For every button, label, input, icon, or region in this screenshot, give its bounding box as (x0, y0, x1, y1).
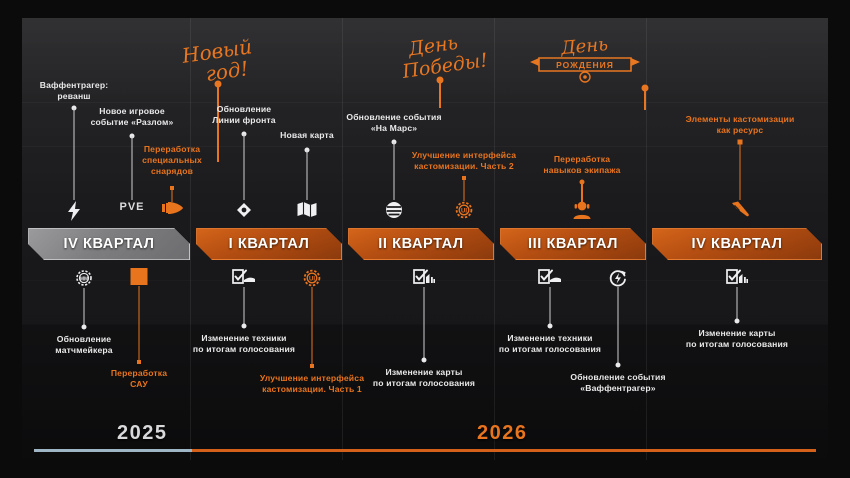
milestone-label: Элементы кастомизациикак ресурс (686, 114, 795, 136)
svg-text:UI: UI (309, 276, 315, 282)
quarter-bar-label: IV КВАРТАЛ (691, 236, 782, 252)
milestone-dot (735, 319, 740, 324)
quarter-bar-q2-2026[interactable]: II КВАРТАЛ (348, 228, 494, 260)
milestone-dot (82, 325, 87, 330)
milestone-label: ОбновлениеЛинии фронта (212, 104, 275, 126)
quarter-bar-q4-2025[interactable]: IV КВАРТАЛ (28, 228, 190, 260)
map-icon (297, 201, 318, 218)
svg-text:MM: MM (80, 276, 88, 282)
milestone-stem (737, 287, 738, 321)
milestone-stem (244, 287, 245, 326)
lightning-bolt-icon (64, 200, 84, 222)
vote-map-icon (726, 268, 748, 285)
vote-tank-icon (538, 268, 562, 285)
milestone-label: Обновлениематчмейкера (55, 334, 112, 356)
milestone-label: Обновление события«На Марс» (346, 112, 441, 134)
roadmap-board: Новый год! День Победы! День (22, 18, 828, 460)
milestone-label: Ваффентрагер:реванш (40, 80, 109, 102)
milestone-label: Изменение картыпо итогам голосования (373, 367, 475, 389)
svg-text:UI: UI (461, 208, 467, 214)
milestone-stem (740, 142, 741, 200)
milestone-stem (307, 150, 308, 200)
milestone-dot (548, 324, 553, 329)
milestone-stem (84, 288, 85, 327)
milestone-label: Изменение техникипо итогам голосования (193, 333, 295, 355)
frontline-burst-icon (234, 200, 254, 220)
roadmap-infographic: Новый год! День Победы! День (0, 0, 850, 478)
milestone-label: Новая карта (280, 130, 334, 141)
milestone-stem (394, 142, 395, 200)
ui-gear-icon: UI (454, 200, 474, 220)
milestone-stem (139, 286, 140, 362)
milestone-stem (74, 108, 75, 200)
event-cycle-icon (608, 268, 628, 288)
milestone-stem (312, 287, 313, 366)
milestone-stem (172, 188, 173, 202)
milestone-label: Переработканавыков экипажа (543, 154, 620, 176)
milestone-dot (137, 360, 141, 364)
ui-gear-icon: UI (302, 268, 322, 288)
milestone-dot (242, 324, 247, 329)
quarter-bar-label: IV КВАРТАЛ (63, 236, 154, 252)
square-placeholder-icon (131, 268, 148, 285)
mars-planet-icon (384, 200, 404, 220)
year-label-2026: 2026 (477, 422, 528, 445)
milestone-stem (244, 134, 245, 200)
quarter-bar-label: III КВАРТАЛ (528, 236, 618, 252)
milestone-stem (464, 178, 465, 201)
timeline-bar-2025 (34, 449, 192, 452)
crew-icon (571, 200, 593, 220)
milestone-stem (424, 287, 425, 360)
timeline-bar-2026 (192, 449, 816, 452)
milestone-label: Изменение картыпо итогам голосования (686, 328, 788, 350)
milestone-stem (550, 287, 551, 326)
quarter-bar-q1-2026[interactable]: I КВАРТАЛ (196, 228, 342, 260)
paint-brush-icon (729, 200, 751, 222)
milestone-dot (422, 358, 427, 363)
vote-tank-icon (232, 268, 256, 285)
milestone-label: ПереработкаСАУ (111, 368, 167, 390)
quarter-bar-label: II КВАРТАЛ (378, 236, 463, 252)
milestone-dot (310, 364, 314, 368)
quarter-bar-label: I КВАРТАЛ (229, 236, 310, 252)
vote-map-icon (413, 268, 435, 285)
milestone-stem (132, 136, 133, 200)
quarter-bar-q4-2026[interactable]: IV КВАРТАЛ (652, 228, 822, 260)
matchmaker-gear-icon: MM (74, 268, 94, 288)
pve-text-icon: PVE (119, 201, 144, 213)
milestone-label: Новое игровоесобытие «Разлом» (91, 106, 174, 128)
milestone-stem (618, 287, 619, 365)
shell-icon (160, 201, 184, 215)
year-label-2025: 2025 (117, 422, 168, 445)
milestone-label: Изменение техникипо итогам голосования (499, 333, 601, 355)
quarter-bar-q3-2026[interactable]: III КВАРТАЛ (500, 228, 646, 260)
milestone-dot (616, 363, 621, 368)
